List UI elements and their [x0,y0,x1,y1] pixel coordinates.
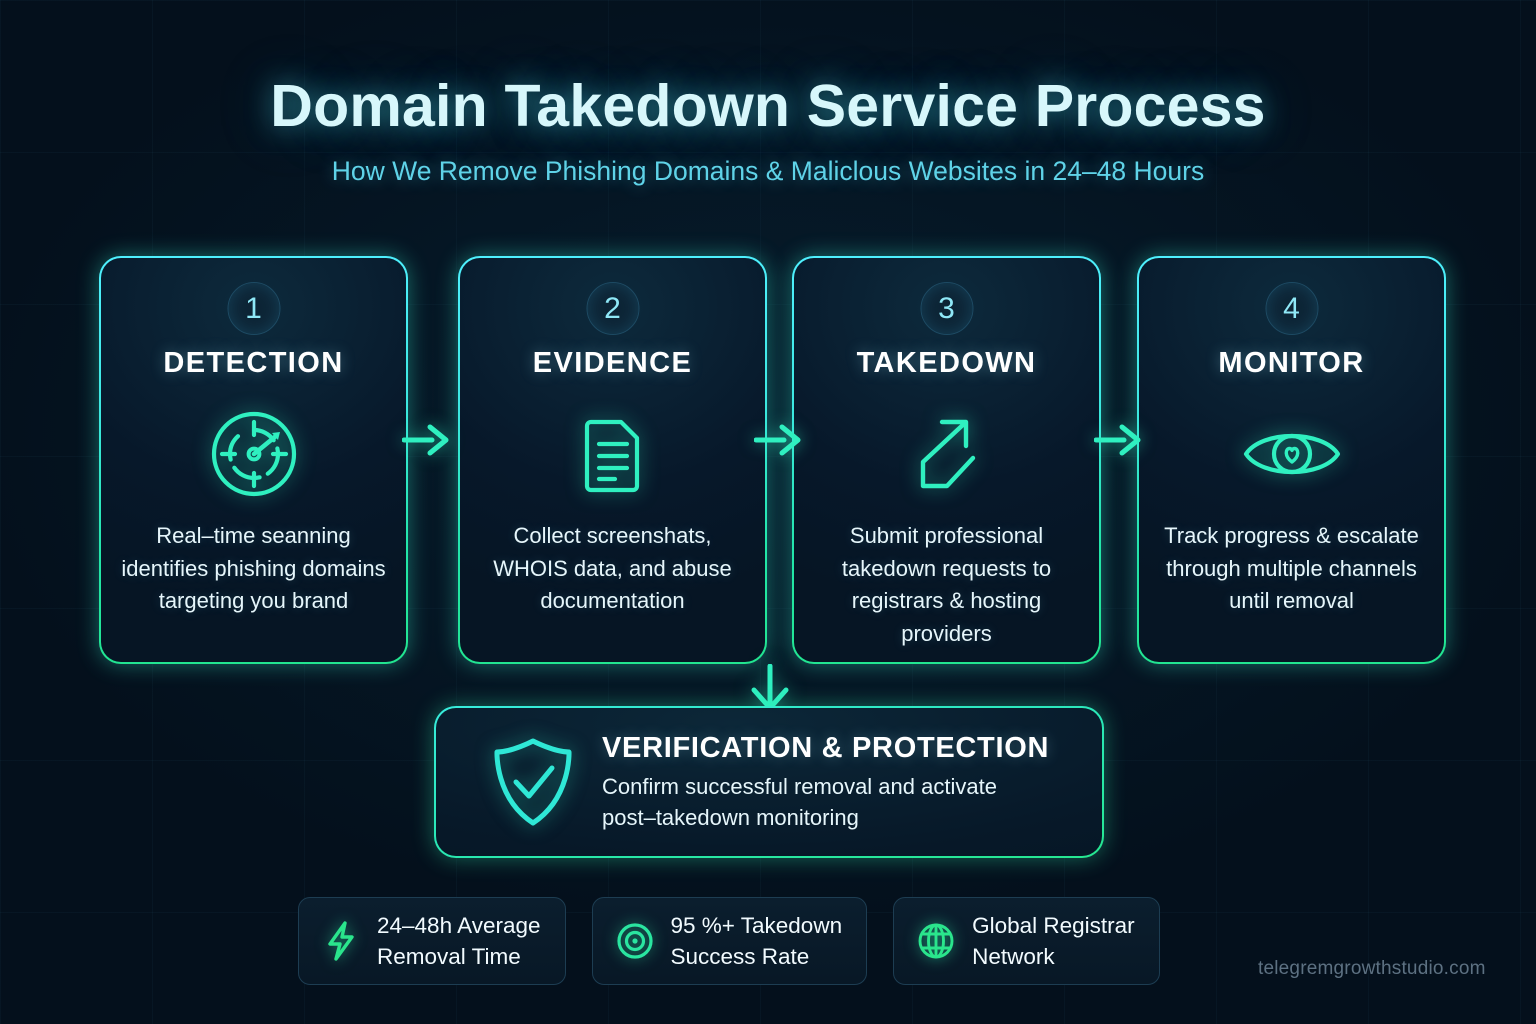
step-card-detection[interactable]: 1 DETECTION Real–time seanning identifie… [99,256,408,664]
stat-label: 95 %+ Takedown Success Rate [671,910,843,972]
step-number-badge: 1 [227,282,280,335]
stat-pill-removal-time[interactable]: 24–48h Average Removal Time [298,897,566,985]
verification-title: VERIFICATION & PROTECTION [602,732,1049,765]
stat-pill-success-rate[interactable]: 95 %+ Takedown Success Rate [592,897,868,985]
arrow-right-icon [1094,420,1150,460]
stat-label: 24–48h Average Removal Time [377,910,541,972]
eye-heart-icon [1240,402,1344,506]
arrow-right-icon [402,420,458,460]
arrow-right-icon [754,420,810,460]
step-description: Submit professional takedown requests to… [811,520,1082,650]
globe-icon [916,920,956,962]
stats-row: 24–48h Average Removal Time 95 %+ Takedo… [298,897,1160,985]
step-title: MONITOR [1139,347,1444,380]
shield-check-icon [490,736,576,828]
header: Domain Takedown Service Process How We R… [0,72,1536,187]
stat-line2: Network [972,941,1135,972]
verification-banner[interactable]: VERIFICATION & PROTECTION Confirm succes… [434,706,1104,858]
stat-line2: Success Rate [671,941,843,972]
step-card-takedown[interactable]: 3 TAKEDOWN Submit professional takedown … [792,256,1101,664]
target-rings-icon [615,920,655,962]
step-title: DETECTION [101,347,406,380]
stat-line1: 24–48h Average [377,910,541,941]
step-card-monitor[interactable]: 4 MONITOR Track progress & escalate thro… [1137,256,1446,664]
radar-target-icon [202,402,306,506]
verification-description-line2: post–takedown monitoring [602,802,1049,833]
stat-line2: Removal Time [377,941,541,972]
page-subtitle: How We Remove Phishing Domains & Maliclo… [0,156,1536,187]
step-title: EVIDENCE [460,347,765,380]
document-lines-icon [561,402,665,506]
step-number-badge: 2 [586,282,639,335]
verification-text: VERIFICATION & PROTECTION Confirm succes… [602,732,1049,833]
step-number-badge: 4 [1265,282,1318,335]
verification-description-line1: Confirm successful removal and activate [602,771,1049,802]
arrow-up-right-icon [895,402,999,506]
lightning-bolt-icon [321,920,361,962]
page-title: Domain Takedown Service Process [0,72,1536,140]
step-number-badge: 3 [920,282,973,335]
verification-description: Confirm successful removal and activate … [602,771,1049,833]
step-title: TAKEDOWN [794,347,1099,380]
step-description: Track progress & escalate through multip… [1156,520,1427,618]
infographic-canvas: Domain Takedown Service Process How We R… [0,0,1536,1024]
step-description: Real–time seanning identifies phishing d… [118,520,389,618]
stat-line1: Global Registrar [972,910,1135,941]
footer-website: telegremgrowthstudio.com [1258,958,1486,980]
stat-pill-registrar-network[interactable]: Global Registrar Network [893,897,1160,985]
step-description: Collect screenshats, WHOIS data, and abu… [477,520,748,618]
stat-label: Global Registrar Network [972,910,1135,972]
stat-line1: 95 %+ Takedown [671,910,843,941]
step-card-evidence[interactable]: 2 EVIDENCE Collect screenshats, WHOIS da… [458,256,767,664]
